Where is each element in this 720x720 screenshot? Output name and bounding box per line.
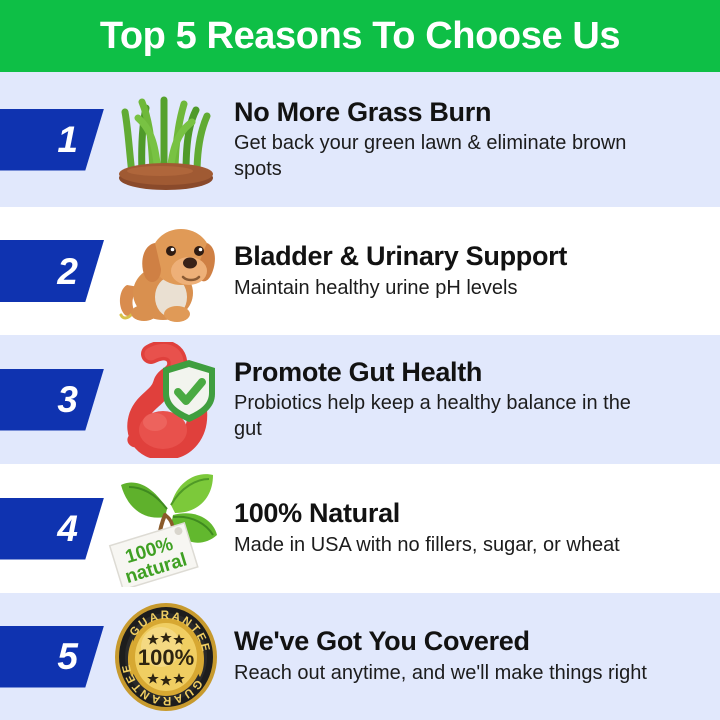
reason-number-badge-3: 3 <box>0 369 104 431</box>
reason-number-badge-4: 4 <box>0 498 104 560</box>
reason-text-1: No More Grass Burn Get back your green l… <box>226 97 720 183</box>
reason-title-2: Bladder & Urinary Support <box>234 241 706 272</box>
reason-text-5: We've Got You Covered Reach out anytime,… <box>226 626 720 686</box>
reason-description-2: Maintain healthy urine pH levels <box>234 276 654 302</box>
reason-row-2: 2 <box>0 207 720 335</box>
reason-title-3: Promote Gut Health <box>234 357 706 388</box>
reason-number-3: 3 <box>57 381 78 418</box>
reason-number-4: 4 <box>57 510 78 547</box>
reason-text-4: 100% Natural Made in USA with no fillers… <box>226 498 720 558</box>
reasons-list: 1 <box>0 72 720 720</box>
reason-text-2: Bladder & Urinary Support Maintain healt… <box>226 241 720 301</box>
reason-title-1: No More Grass Burn <box>234 97 706 128</box>
reason-number-5: 5 <box>57 638 78 675</box>
reason-number-badge-1: 1 <box>0 109 104 171</box>
page-title: Top 5 Reasons To Choose Us <box>100 17 620 55</box>
promo-graphic: Top 5 Reasons To Choose Us 1 <box>0 0 720 720</box>
reason-row-1: 1 <box>0 72 720 207</box>
stomach-shield-check-icon <box>106 342 226 458</box>
reason-description-1: Get back your green lawn & eliminate bro… <box>234 131 654 182</box>
reason-row-5: 5 100% <box>0 593 720 720</box>
leaf-natural-tag-icon: 100% natural <box>106 471 226 587</box>
reason-description-4: Made in USA with no fillers, sugar, or w… <box>234 533 654 559</box>
reason-title-5: We've Got You Covered <box>234 626 706 657</box>
reason-description-3: Probiotics help keep a healthy balance i… <box>234 391 654 442</box>
puppy-dog-icon <box>106 213 226 329</box>
reason-text-3: Promote Gut Health Probiotics help keep … <box>226 357 720 443</box>
reason-row-3: 3 Promote Gut Health Probiotics help kee… <box>0 335 720 464</box>
reason-description-5: Reach out anytime, and we'll make things… <box>234 661 654 687</box>
grass-tuft-icon <box>106 82 226 198</box>
reason-number-badge-2: 2 <box>0 240 104 302</box>
reason-title-4: 100% Natural <box>234 498 706 529</box>
reason-number-badge-5: 5 <box>0 626 104 688</box>
reason-number-1: 1 <box>57 121 78 158</box>
reason-number-2: 2 <box>57 253 78 290</box>
gold-guarantee-seal-icon: 100% GU <box>106 599 226 715</box>
header-banner: Top 5 Reasons To Choose Us <box>0 0 720 72</box>
reason-row-4: 4 100% natural <box>0 464 720 593</box>
seal-center-text: 100% <box>138 645 194 670</box>
